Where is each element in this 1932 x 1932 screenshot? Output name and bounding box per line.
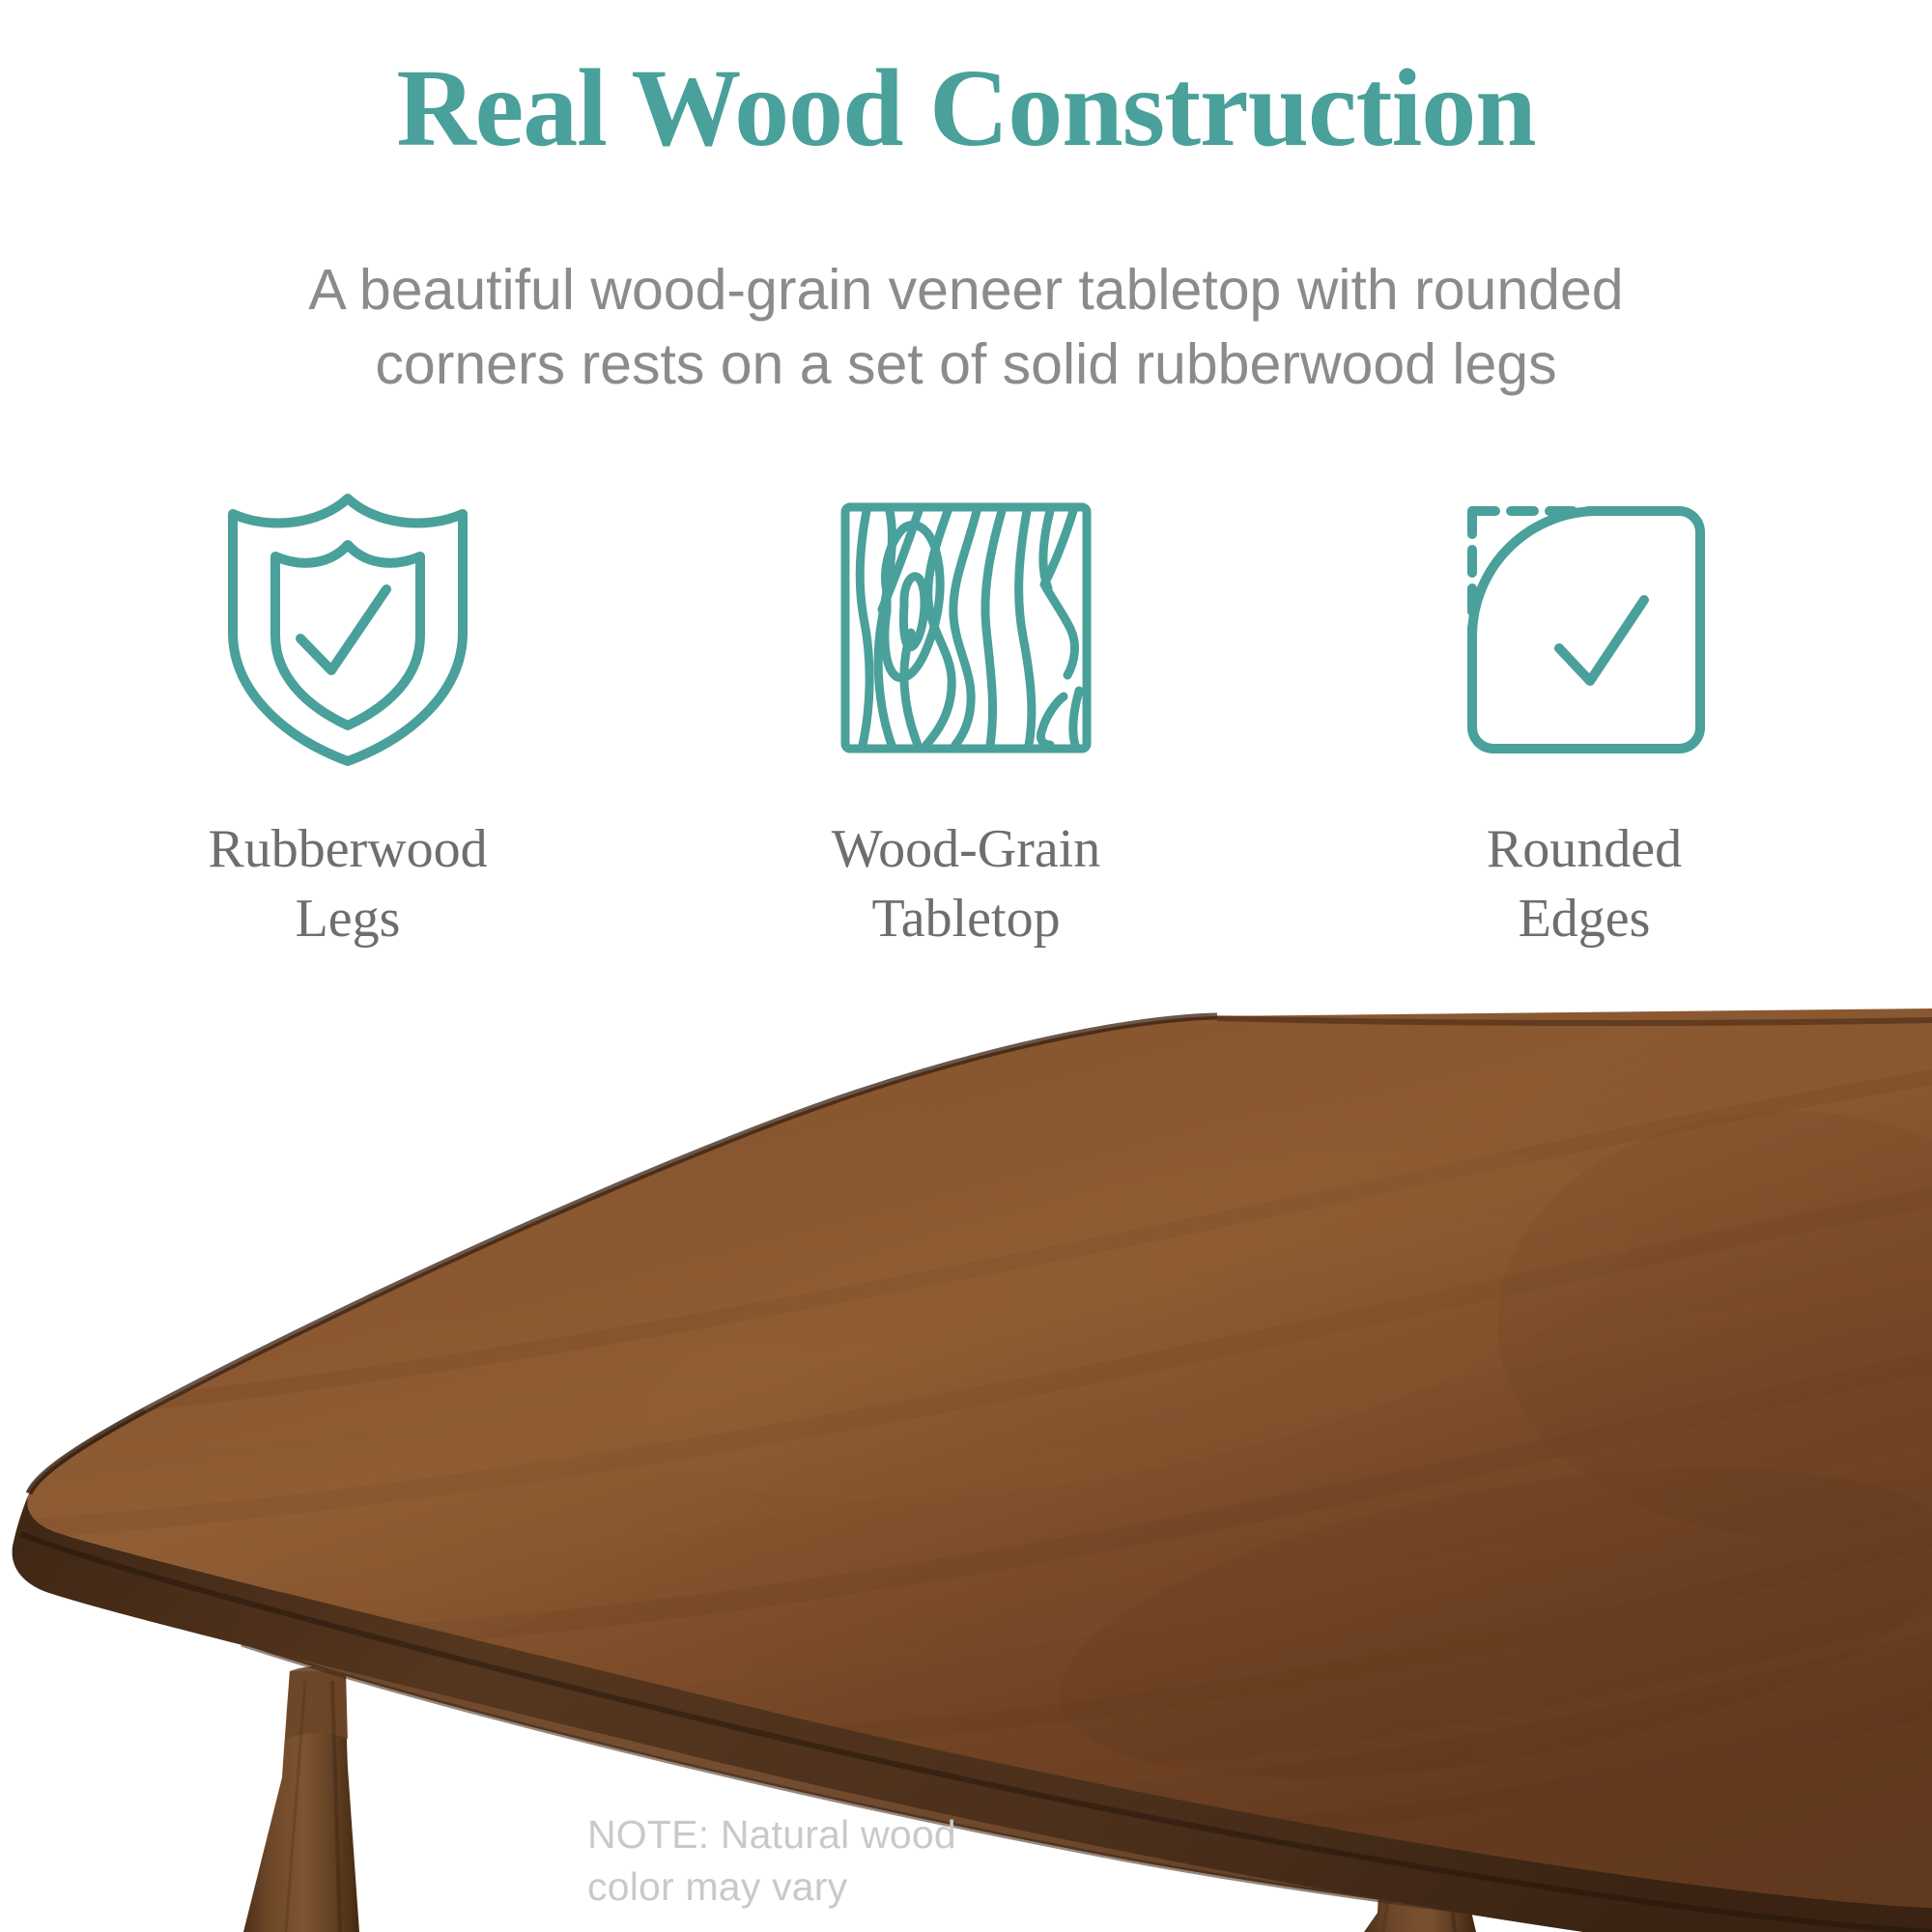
feature-label-line-1: Rubberwood xyxy=(208,815,487,885)
rounded-corner-check-icon xyxy=(1453,483,1716,773)
page-title: Real Wood Construction xyxy=(0,50,1932,166)
table-leg-left xyxy=(243,1666,359,1932)
feature-item-rubberwood-legs: Rubberwood Legs xyxy=(39,483,657,953)
feature-label-line-2: Tabletop xyxy=(832,885,1101,954)
feature-label-line-2: Edges xyxy=(1487,885,1682,954)
product-photo xyxy=(0,1005,1932,1932)
note-line-1: NOTE: Natural wood xyxy=(587,1808,1090,1861)
wood-grain-square-icon xyxy=(836,483,1096,773)
feature-label-line-1: Wood-Grain xyxy=(832,815,1101,885)
feature-label-rounded-edges: Rounded Edges xyxy=(1487,815,1682,953)
feature-label-rubberwood-legs: Rubberwood Legs xyxy=(208,815,487,953)
feature-label-line-2: Legs xyxy=(208,885,487,954)
feature-label-line-1: Rounded xyxy=(1487,815,1682,885)
photo-disclaimer-note: NOTE: Natural wood color may vary xyxy=(587,1808,1090,1913)
page-subtitle: A beautiful wood-grain veneer tabletop w… xyxy=(126,253,1806,401)
subtitle-line-1: A beautiful wood-grain veneer tabletop w… xyxy=(126,253,1806,327)
feature-item-wood-grain-tabletop: Wood-Grain Tabletop xyxy=(657,483,1275,953)
feature-list: Rubberwood Legs xyxy=(0,483,1932,953)
feature-item-rounded-edges: Rounded Edges xyxy=(1275,483,1893,953)
subtitle-line-2: corners rests on a set of solid rubberwo… xyxy=(126,327,1806,402)
product-feature-infographic: Real Wood Construction A beautiful wood-… xyxy=(0,0,1932,1932)
shield-check-icon xyxy=(219,483,476,773)
note-line-2: color may vary xyxy=(587,1861,1090,1913)
feature-label-wood-grain-tabletop: Wood-Grain Tabletop xyxy=(832,815,1101,953)
